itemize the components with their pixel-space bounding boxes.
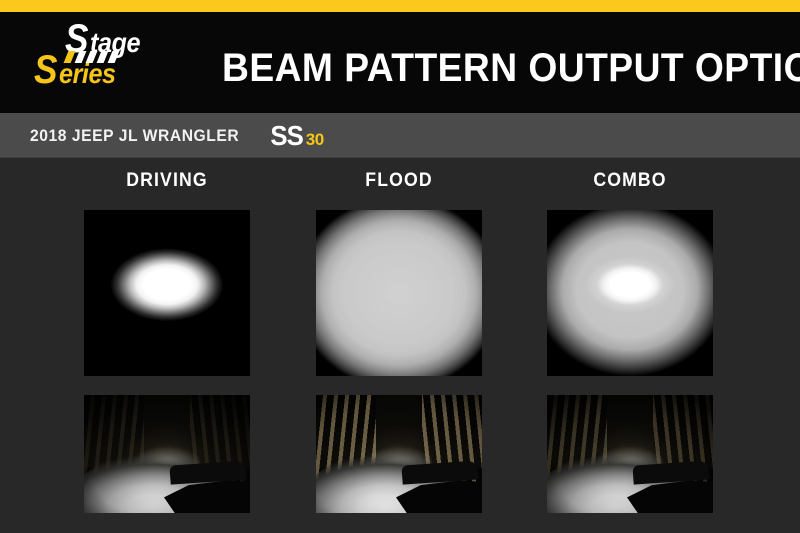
column-label-flood: FLOOD [322, 170, 476, 192]
logo-series-rest: eries [59, 56, 116, 92]
road-photo-flood [316, 395, 482, 513]
stage-series-logo: Stage Series [34, 19, 199, 95]
comparison-grid: DRIVING FLOOD [0, 158, 800, 533]
photo-layers-driving [84, 395, 250, 513]
beam-pattern-infographic: Stage Series BEAM PATTERN OUTPUT OPTIONS… [0, 0, 800, 533]
subtitle-content: 2018 JEEP JL WRANGLER SS30 [30, 113, 324, 158]
model-number: 30 [306, 130, 324, 150]
logo-series-capital: S [34, 52, 57, 88]
column-label-driving: DRIVING [90, 170, 244, 192]
column-label-combo: COMBO [553, 170, 707, 192]
vehicle-label: 2018 JEEP JL WRANGLER [30, 126, 239, 146]
model-prefix: SS [271, 120, 304, 152]
model-badge: SS30 [269, 120, 323, 152]
beam-pattern-combo [547, 210, 713, 376]
top-accent-stripe [0, 0, 800, 12]
logo-word-series: Series [34, 52, 122, 92]
photo-layers-flood [316, 395, 482, 513]
beam-gradient-driving [84, 210, 250, 376]
beam-pattern-driving [84, 210, 250, 376]
subtitle-band: 2018 JEEP JL WRANGLER SS30 [0, 113, 800, 158]
road-photo-driving [84, 395, 250, 513]
photo-layers-combo [547, 395, 713, 513]
road-photo-combo [547, 395, 713, 513]
beam-gradient-flood [316, 210, 482, 376]
beam-gradient-combo [547, 210, 713, 376]
page-title: BEAM PATTERN OUTPUT OPTIONS [222, 48, 800, 88]
beam-pattern-flood [316, 210, 482, 376]
